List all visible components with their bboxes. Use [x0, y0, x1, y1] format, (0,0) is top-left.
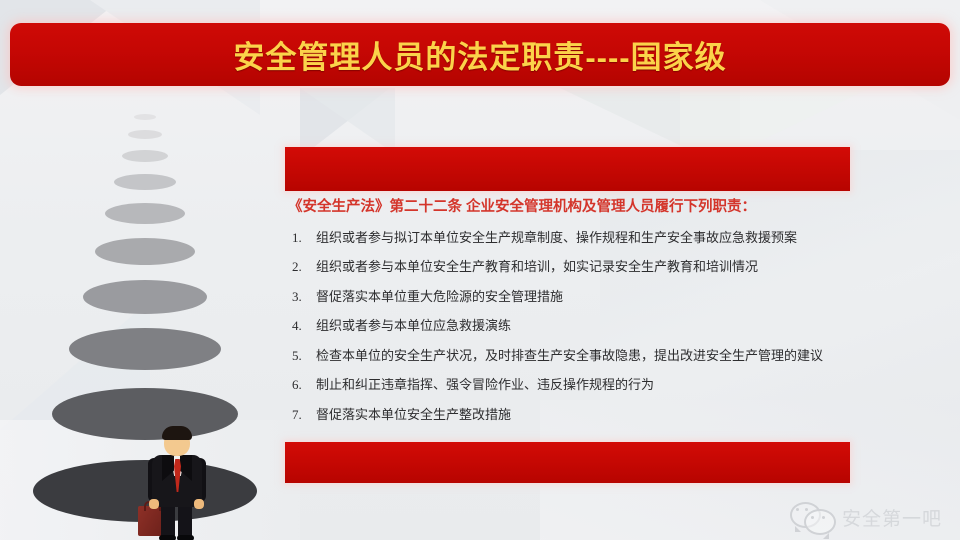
duty-item: 督促落实本单位重大危险源的安全管理措施 [288, 288, 863, 306]
businessman-figure [146, 418, 208, 540]
content-top-bar [285, 147, 850, 191]
stepping-stone [122, 150, 168, 162]
stepping-stone [83, 280, 207, 314]
page-title: 安全管理人员的法定职责----国家级 [233, 32, 726, 77]
duty-item: 组织或者参与本单位安全生产教育和培训，如实记录安全生产教育和培训情况 [288, 258, 863, 276]
figure-hair [162, 426, 192, 440]
stepping-stone [134, 114, 156, 120]
duty-list: 组织或者参与拟订本单位安全生产规章制度、操作规程和生产安全事故应急救援预案组织或… [288, 229, 863, 424]
figure-hand-left [149, 499, 159, 509]
duty-item: 组织或者参与本单位应急救援演练 [288, 317, 863, 335]
title-banner: 安全管理人员的法定职责----国家级 [10, 23, 950, 86]
figure-leg-left [161, 503, 175, 539]
stepping-stone [52, 388, 238, 440]
wechat-dot [796, 508, 799, 511]
wechat-bubble-front [804, 509, 836, 535]
content-bottom-bar [285, 442, 850, 483]
duty-item: 制止和纠正违章指挥、强令冒险作业、违反操作规程的行为 [288, 376, 863, 394]
watermark: 安全第一吧 [790, 502, 942, 532]
content-panel: 《安全生产法》第二十二条 企业安全管理机构及管理人员履行下列职责： 组织或者参与… [288, 195, 863, 435]
figure-shoe-left [159, 535, 176, 540]
stepping-stone [95, 238, 195, 265]
figure-hand-right [194, 499, 204, 509]
stepping-stone [128, 130, 162, 139]
wechat-dot [811, 516, 814, 519]
duty-item: 督促落实本单位安全生产整改措施 [288, 406, 863, 424]
content-heading: 《安全生产法》第二十二条 企业安全管理机构及管理人员履行下列职责： [288, 195, 863, 216]
figure-shoe-right [177, 535, 194, 540]
wechat-dot [805, 508, 808, 511]
duty-item: 组织或者参与拟订本单位安全生产规章制度、操作规程和生产安全事故应急救援预案 [288, 229, 863, 247]
stepping-stone [114, 174, 176, 190]
figure-leg-right [178, 503, 192, 539]
watermark-label: 安全第一吧 [842, 504, 942, 531]
wechat-icon [790, 502, 834, 532]
duty-item: 检查本单位的安全生产状况，及时排查生产安全事故隐患，提出改进安全生产管理的建议 [288, 347, 863, 365]
slide-canvas: 安全管理人员的法定职责----国家级 《安全生产法》第二 [0, 0, 960, 540]
stepping-stone [105, 203, 185, 224]
wechat-dot [822, 516, 825, 519]
stepping-stone [69, 328, 221, 370]
illustration-stepping-path [0, 100, 290, 540]
